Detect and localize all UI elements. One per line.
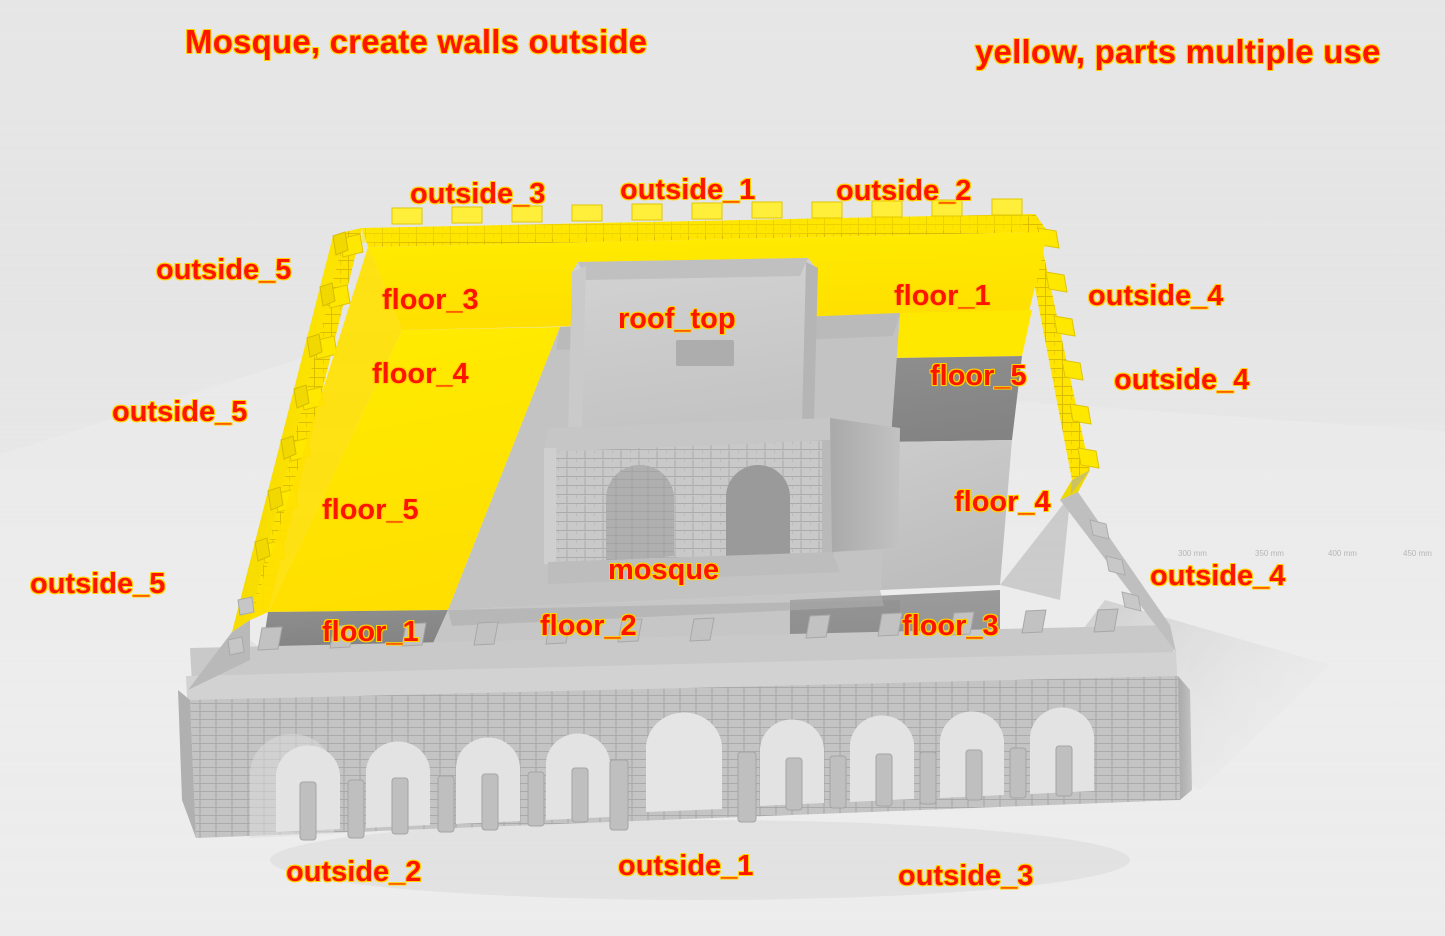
label-floor-5-right: floor_5 [930, 362, 1027, 391]
label-outside-2-top: outside_2 [836, 177, 971, 206]
annotation-title-right: yellow, parts multiple use [975, 35, 1381, 68]
label-outside-4-a: outside_4 [1088, 282, 1223, 311]
label-floor-3-bottom: floor_3 [902, 612, 999, 641]
arcade-central-gate [646, 712, 722, 812]
label-outside-3-top: outside_3 [410, 180, 545, 209]
label-roof-top: roof_top [618, 305, 736, 334]
label-outside-4-c: outside_4 [1150, 562, 1285, 591]
mosque-facade [544, 440, 836, 562]
label-outside-1-top: outside_1 [620, 176, 755, 205]
label-mosque: mosque [608, 556, 719, 585]
label-outside-4-b: outside_4 [1114, 366, 1249, 395]
annotation-title-left: Mosque, create walls outside [185, 25, 647, 58]
label-outside-3-bottom: outside_3 [898, 862, 1033, 891]
label-outside-1-bottom: outside_1 [618, 852, 753, 881]
label-floor-1-bottom: floor_1 [322, 618, 419, 647]
label-outside-5-c: outside_5 [30, 570, 165, 599]
label-floor-3: floor_3 [382, 286, 479, 315]
label-floor-2-bottom: floor_2 [540, 612, 637, 641]
label-floor-1-right: floor_1 [894, 282, 991, 311]
label-outside-5-a: outside_5 [156, 256, 291, 285]
label-outside-2-bottom: outside_2 [286, 858, 421, 887]
label-floor-5-left: floor_5 [322, 496, 419, 525]
label-outside-5-b: outside_5 [112, 398, 247, 427]
mosque-side-wall [830, 418, 900, 552]
roof-plaque [676, 340, 734, 366]
label-floor-4-right: floor_4 [954, 488, 1051, 517]
mosque-arch-right [726, 465, 790, 558]
viewport: 300 mm 350 mm 400 mm 450 mm [0, 0, 1445, 936]
label-floor-4-left: floor_4 [372, 360, 469, 389]
mosque-3d-model[interactable] [0, 0, 1445, 936]
floor-tile-floor1 [895, 310, 1032, 358]
